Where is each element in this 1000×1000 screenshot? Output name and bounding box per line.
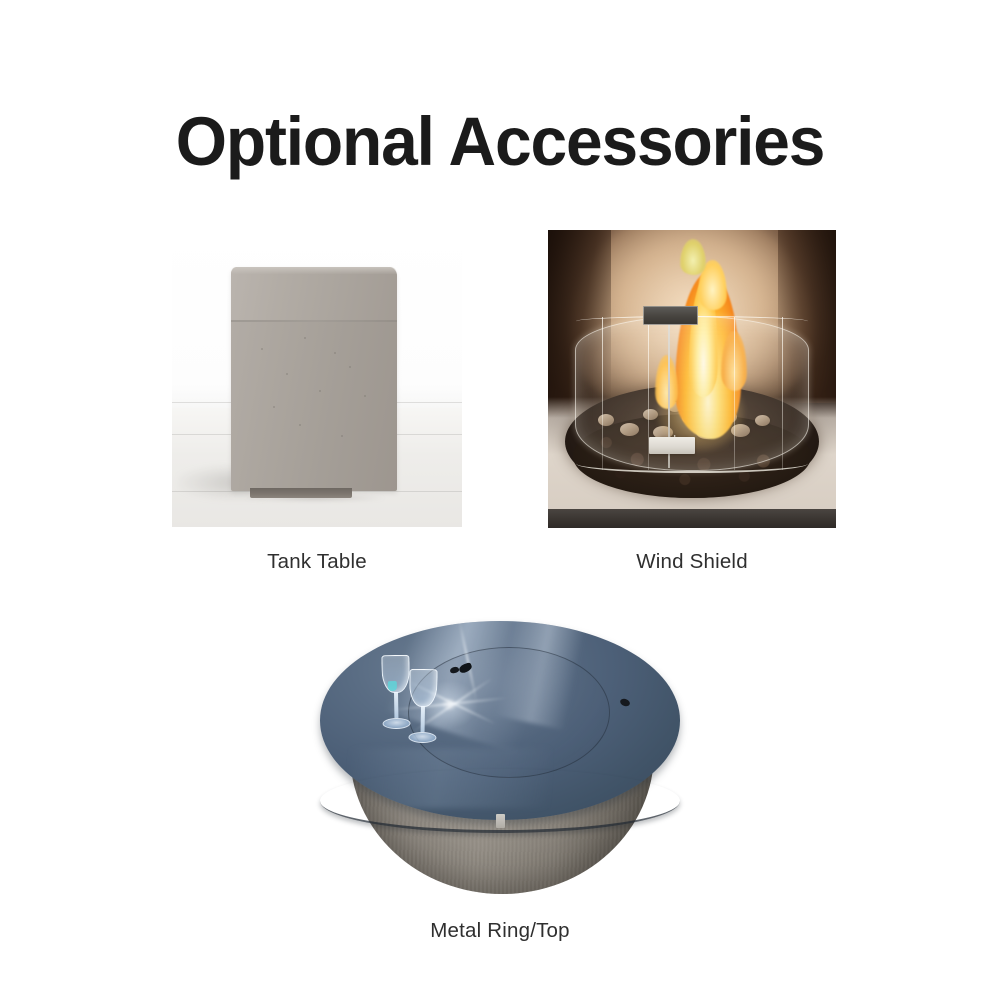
concrete-speck	[286, 373, 288, 375]
accessory-image-wind-shield[interactable]: solus	[548, 230, 836, 528]
wine-glass-foot	[409, 732, 437, 743]
tank-table-lid	[231, 267, 396, 322]
glass-panel-seam	[734, 317, 735, 470]
lid-lift-notch	[619, 697, 631, 707]
wine-glass-bowl	[409, 669, 438, 707]
wine-glass-tint	[388, 681, 397, 691]
accessories-page: Optional Accessories	[0, 0, 1000, 1000]
concrete-speck	[349, 366, 351, 368]
accessory-caption-tank-table: Tank Table	[172, 549, 462, 575]
burner-sign-plate	[643, 306, 698, 325]
photo-bottom-band	[548, 509, 836, 528]
tank-table-lid-top-face	[231, 267, 396, 274]
lid-clip	[496, 814, 505, 828]
accessory-image-tank-table[interactable]	[172, 230, 462, 527]
glass-rim-bottom	[576, 454, 807, 474]
wine-glass-foot	[383, 718, 411, 729]
concrete-speck	[299, 424, 301, 426]
tank-table-photo	[172, 230, 462, 527]
concrete-speck	[341, 435, 343, 437]
page-title: Optional Accessories	[23, 104, 978, 180]
concrete-speck	[273, 406, 275, 408]
concrete-speck	[261, 348, 263, 350]
tank-table-foot	[250, 488, 352, 498]
wine-glass	[408, 669, 439, 744]
concrete-speck	[334, 352, 336, 354]
accessory-caption-wind-shield: Wind Shield	[548, 549, 836, 575]
concrete-speck	[319, 390, 321, 392]
accessory-caption-metal-ring-top: Metal Ring/Top	[300, 918, 700, 944]
glass-panel-seam	[782, 317, 783, 470]
burner-label-plate	[649, 437, 695, 453]
wind-shield-photo: solus	[548, 230, 836, 528]
wine-glass-stem	[395, 692, 399, 718]
accessory-image-metal-ring-top[interactable]	[300, 608, 700, 900]
tank-table-body	[231, 267, 396, 491]
metal-ring-top-photo	[300, 608, 700, 900]
concrete-speck	[304, 337, 306, 339]
glass-panel-seam	[602, 317, 603, 470]
concrete-speck	[364, 395, 366, 397]
wine-glass-stem	[421, 706, 425, 732]
